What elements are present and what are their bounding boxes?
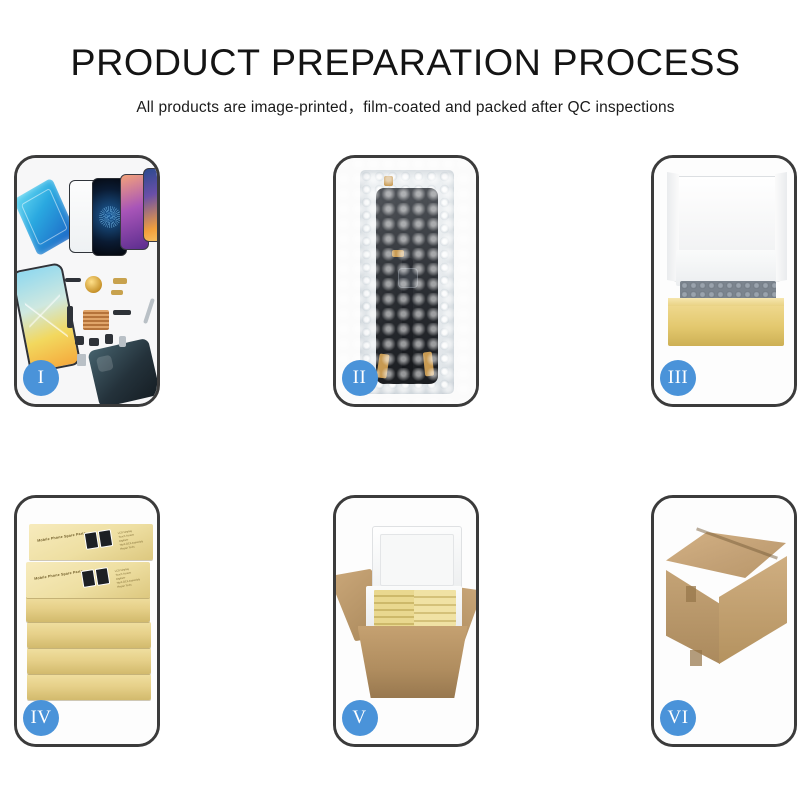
step-badge-ii: II [342,360,378,396]
box-label-text: Mobile Phone Spare Parts [37,531,86,543]
open-gold-box-illustration: III [654,158,794,404]
process-step-card-iii: III [651,155,797,407]
chip-component-icon [113,310,131,315]
copper-mesh-component-icon [83,310,109,330]
gold-box-icon [26,596,150,622]
process-step-grid: I II III [14,155,797,747]
phone-back-housing-icon [87,338,157,404]
tape-strip-icon [690,650,702,666]
flex-cable-icon [113,278,127,284]
phone-thumbnail-icon [81,569,96,588]
process-step-card-iv: Mobile Phone Spare Parts LCD DisplayTouc… [14,495,160,747]
step-badge-vi: VI [660,700,696,736]
page-subtitle: All products are image-printed，film-coat… [0,95,811,117]
phone-thumbnail-icon [84,531,99,550]
gold-box-icon [27,648,151,674]
battery-component-icon [119,336,126,347]
bubble-wrapped-screen-illustration: II [336,158,476,404]
step-badge-i: I [23,360,59,396]
connector-icon [398,268,418,288]
screwdriver-icon [143,298,155,324]
process-step-card-ii: II [333,155,479,407]
box-label-text: Mobile Phone Spare Parts [34,569,83,581]
box-spec-text: LCD DisplayTouch ScreenDigitizerHard OCA… [115,566,141,589]
process-step-card-vi: VI [651,495,797,747]
coil-component-icon [85,276,102,293]
process-step-card-v: V [333,495,479,747]
carton-body-icon [358,626,468,698]
box-spec-text: LCD DisplayTouch ScreenDigitizerHard OCA… [118,528,144,551]
step-badge-iii: III [660,360,696,396]
step-badge-iv: IV [23,700,59,736]
gold-box-icon: Mobile Phone Spare Parts LCD DisplayTouc… [29,524,153,560]
gold-boxes-row-icon [414,590,456,626]
phone-thumbnail-icon [98,529,113,548]
tape-strip-icon [392,250,404,257]
chip-component-icon [67,306,73,328]
stacked-gold-boxes-illustration: Mobile Phone Spare Parts LCD DisplayTouc… [17,498,157,744]
gold-box-base-icon [668,304,784,346]
parts-collage-illustration: I [17,158,157,404]
sealed-carton-illustration: VI [654,498,794,744]
small-part-icon [77,354,86,366]
chip-component-icon [75,336,84,345]
gold-box-icon [27,674,151,700]
chip-component-icon [89,338,99,346]
page-header: PRODUCT PREPARATION PROCESS All products… [0,0,811,117]
chip-component-icon [65,278,81,282]
gold-box-icon [27,622,151,648]
box-stack: Mobile Phone Spare Parts LCD DisplayTouc… [25,524,153,704]
chip-component-icon [105,334,113,344]
phone-display-orange-icon [143,168,157,242]
step-badge-v: V [342,700,378,736]
phone-thumbnail-icon [95,567,110,586]
flex-cable-icon [111,290,123,295]
carton-with-foam-illustration: V [336,498,476,744]
tape-strip-icon [422,352,433,377]
adhesive-film-icon [17,178,77,257]
page-title: PRODUCT PREPARATION PROCESS [0,44,811,83]
tape-strip-icon [384,176,393,186]
process-step-card-i: I [14,155,160,407]
tape-strip-icon [686,586,696,602]
gold-box-icon: Mobile Phone Spare Parts LCD DisplayTouc… [26,562,150,598]
foam-lid-icon [372,526,462,594]
